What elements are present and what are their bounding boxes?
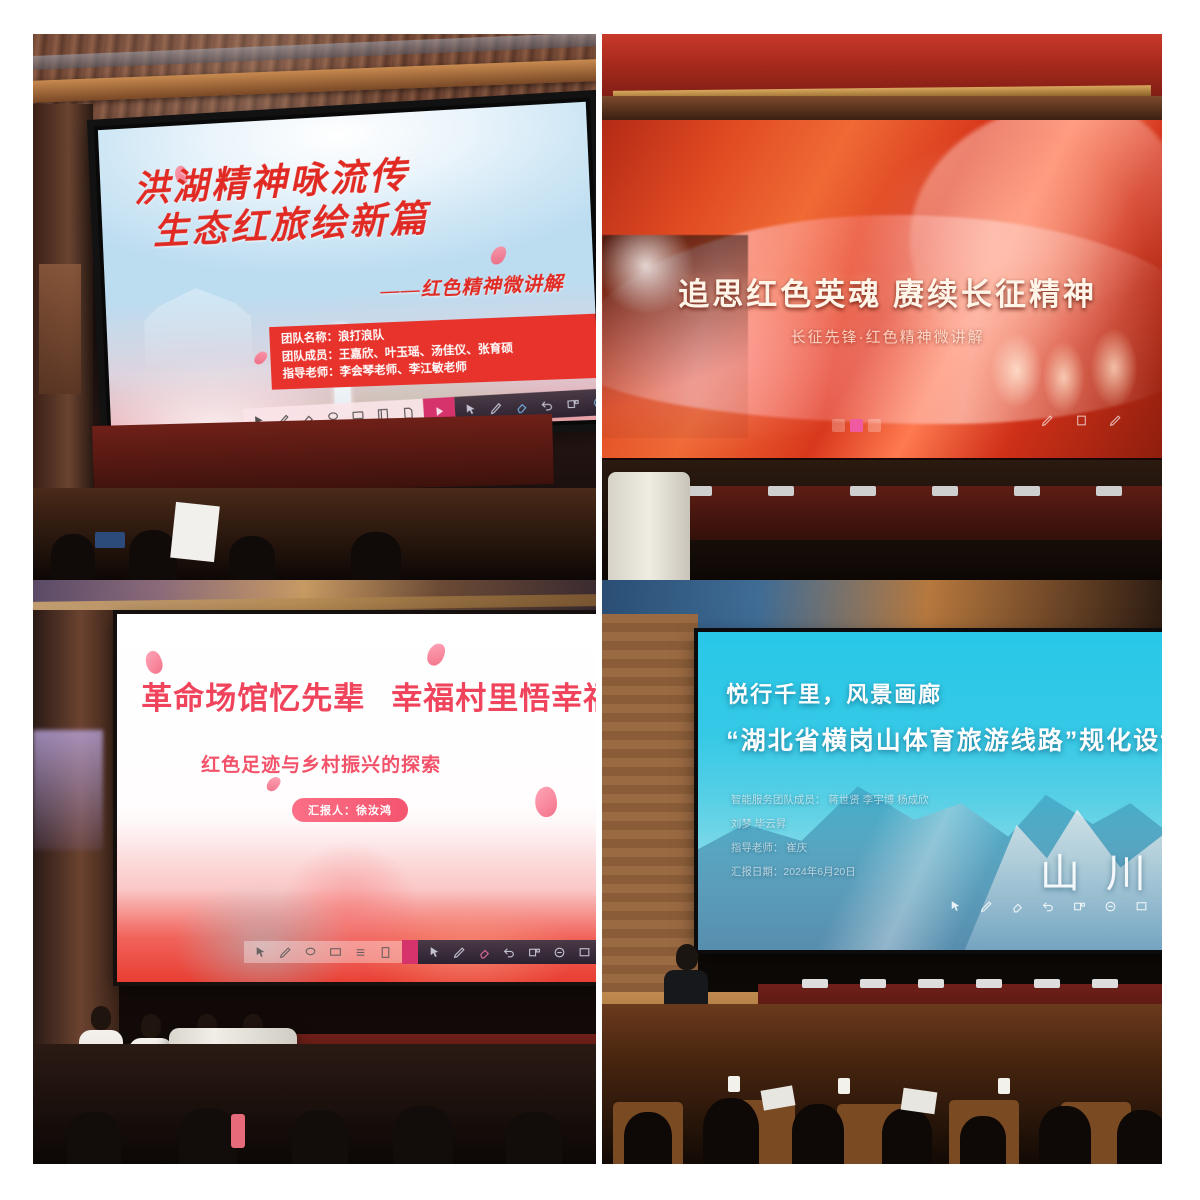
slide-title-part2: 幸福村里悟幸福 [391,681,596,716]
audience-head [882,1108,932,1164]
pen-icon[interactable] [1106,411,1125,430]
cursor-icon[interactable] [946,897,965,916]
audience-head [960,1116,1006,1164]
photo-collage: 洪湖精神咏流传 生态红旅绘新篇 ——红色精神微讲解 团队名称：浪打浪队 团队成员… [33,34,1162,1164]
microphone [976,979,1002,988]
slide-info-box: 团队名称：浪打浪队 团队成员：王嘉欣、叶玉瑶、汤佳仪、张育硕 指导老师：李会琴老… [269,314,596,390]
slide-title-line2: “湖北省横岗山体育旅游线路”规化设计汇报 [726,721,1162,757]
petal-icon [489,244,509,267]
exit-screen-icon[interactable] [1132,897,1151,916]
pen-icon[interactable] [1038,411,1057,430]
undo-icon[interactable] [1039,897,1058,916]
slide-subtitle: 红色足迹与乡村振兴的探索 [117,750,525,777]
slide-title: 革命场馆忆先辈幸福村里悟幸福 [141,673,596,718]
speaker-head [676,944,698,970]
microphone [850,486,876,496]
cursor-icon[interactable] [251,943,270,962]
pen-icon[interactable] [977,897,996,916]
annotation-toolbar-right[interactable] [1035,411,1128,430]
toolbar-dark-group[interactable] [418,940,596,964]
eraser-icon[interactable] [1008,897,1027,916]
pages-icon[interactable] [563,393,584,413]
slide-title: 洪湖精神咏流传 生态红旅绘新篇 [133,148,567,254]
audience-head [351,532,401,580]
audience-document [901,1088,938,1115]
photo-bottom-left: 革命场馆忆先辈幸福村里悟幸福 红色足迹与乡村振兴的探索 汇报人：徐汝鸿 [33,580,596,1164]
presenter-head [141,1014,161,1038]
cursor-icon[interactable] [425,943,444,962]
advisors-label: 指导老师： [282,366,340,380]
microphone [1014,486,1040,496]
square-icon[interactable] [832,419,845,432]
paper-cup [728,1076,740,1092]
presenter-head [91,1006,111,1030]
square-icon[interactable] [868,419,881,432]
slide-title: 悦行千里，风景画廊 “湖北省横岗山体育旅游线路”规化设计汇报 [726,677,1162,757]
led-screen: 洪湖精神咏流传 生态红旅绘新篇 ——红色精神微讲解 团队名称：浪打浪队 团队成员… [94,97,596,439]
audience-area [602,1004,1162,1164]
audience-head [624,1112,672,1164]
paper-cup [998,1078,1010,1094]
petal-icon [425,642,447,669]
microphone [860,979,886,988]
lasso-icon[interactable] [301,943,320,962]
team-name-value: 浪打浪队 [338,329,385,343]
audience-head [292,1110,348,1164]
podium [608,472,690,580]
audience-area [33,1044,596,1164]
eraser-icon[interactable] [512,396,533,416]
annotation-toolbar[interactable] [244,940,596,964]
minus-circle-icon[interactable] [1101,897,1120,916]
stage-table [662,486,1162,540]
marker-icon[interactable] [850,419,863,432]
presenter-badge: 汇报人：徐汝鸿 [292,798,408,822]
minus-circle-icon[interactable] [550,943,569,962]
microphone [932,486,958,496]
audience-head [51,534,95,580]
microphone [1034,979,1060,988]
photo-bottom-right: 悦行千里，风景画廊 “湖北省横岗山体育旅游线路”规化设计汇报 智能服务团队成员：… [596,580,1162,1164]
annotation-toolbar[interactable] [943,897,1154,916]
microphone [1096,486,1122,496]
microphone [768,486,794,496]
meta-members: 智能服务团队成员： 蒋世贤 李宇博 杨成欣 [731,788,1060,812]
microphone [1092,979,1118,988]
pen-icon[interactable] [450,943,469,962]
toolbar-accent-button[interactable] [402,940,418,964]
pen-icon[interactable] [276,943,295,962]
annotation-toolbar[interactable] [832,419,881,432]
minus-circle-icon[interactable] [589,392,596,412]
audience-head [506,1112,562,1164]
audience-head [703,1098,759,1164]
toolbar-light-group[interactable] [244,941,402,963]
slide-subtitle: 长征先锋·红色精神微讲解 [669,326,1106,347]
led-screen: 革命场馆忆先辈幸福村里悟幸福 红色足迹与乡村振兴的探索 汇报人：徐汝鸿 [117,614,596,982]
water-bottle [231,1114,245,1148]
stage-table [92,414,554,496]
presentation-slide: 洪湖精神咏流传 生态红旅绘新篇 ——红色精神微讲解 团队名称：浪打浪队 团队成员… [98,102,596,436]
audience-head [1039,1106,1091,1164]
microphone [918,979,944,988]
calligraphy-watermark: 山 川 [1040,841,1154,899]
paper-cup [838,1078,850,1094]
advisors-value: 李会琴老师、李江敏老师 [339,361,467,378]
members-label: 团队成员： [282,349,340,363]
audience-head [393,1106,453,1164]
audience-head [229,536,275,580]
presentation-slide: 革命场馆忆先辈幸福村里悟幸福 红色足迹与乡村振兴的探索 汇报人：徐汝鸿 [117,614,596,982]
wood-panel [39,264,81,394]
meta-advisor: 指导老师： 崔庆 [731,836,1060,860]
led-screen: 悦行千里，风景画廊 “湖北省横岗山体育旅游线路”规化设计汇报 智能服务团队成员：… [698,632,1162,950]
audience-head [67,1112,121,1164]
photo-top-right: 追思红色英魂 赓续长征精神 长征先锋·红色精神微讲解 [596,34,1162,580]
audience-head [1117,1110,1162,1164]
meta-members-line2: 刘梦 毕云昇 [731,812,1060,836]
screen-icon[interactable] [326,943,345,962]
slide-title: 追思红色英魂 赓续长征精神 [647,269,1129,314]
exit-screen-icon[interactable] [575,943,594,962]
page-icon[interactable] [1072,411,1091,430]
audience-head [179,1108,237,1164]
page-icon[interactable] [376,943,395,962]
held-document [170,502,220,562]
pages-icon[interactable] [525,943,544,962]
undo-icon[interactable] [500,943,519,962]
slide-title-line1: 悦行千里，风景画廊 [726,677,1162,709]
ceiling-wood-band [602,96,1162,120]
team-name-label: 团队名称： [281,331,339,345]
presentation-slide: 悦行千里，风景画廊 “湖北省横岗山体育旅游线路”规化设计汇报 智能服务团队成员：… [698,632,1162,950]
list-icon[interactable] [351,943,370,962]
slide-meta: 智能服务团队成员： 蒋世贤 李宇博 杨成欣 刘梦 毕云昇 指导老师： 崔庆 汇报… [731,788,1060,885]
pages-icon[interactable] [1070,897,1089,916]
name-plate [95,532,125,548]
wall-light-glow [33,730,103,850]
photo-top-left: 洪湖精神咏流传 生态红旅绘新篇 ——红色精神微讲解 团队名称：浪打浪队 团队成员… [33,34,596,580]
meta-date: 汇报日期：2024年6月20日 [731,860,1060,884]
microphone [802,979,828,988]
undo-icon[interactable] [537,395,558,415]
audience-head [792,1104,844,1164]
slide-title-part1: 革命场馆忆先辈 [141,681,365,716]
eraser-icon[interactable] [475,943,494,962]
led-screen: 追思红色英魂 赓续长征精神 长征先锋·红色精神微讲解 [602,120,1162,458]
